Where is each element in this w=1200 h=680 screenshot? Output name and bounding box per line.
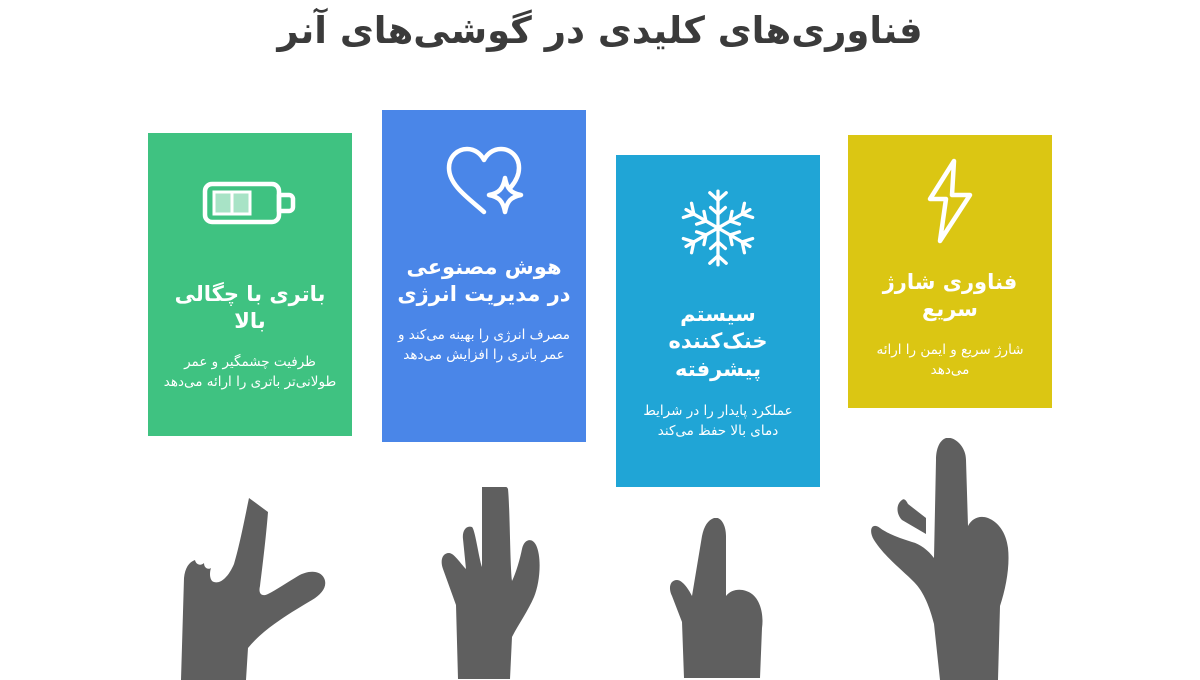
card-battery[interactable]: باتری با چگالی بالا ظرفیت چشمگیر و عمر ط…	[148, 133, 352, 436]
card-battery-icon-wrap	[202, 175, 298, 243]
card-charging-title: فناوری شارژ سریع	[862, 269, 1038, 324]
infographic-canvas: فناوری‌های کلیدی در گوشی‌های آنر باتری ب…	[0, 0, 1200, 675]
card-ai-description: مصرف انرژی را بهینه می‌کند و عمر باتری ر…	[396, 325, 572, 366]
card-charging[interactable]: فناوری شارژ سریع شارژ سریع و ایمن را ارا…	[848, 135, 1052, 408]
card-ai-title: هوش مصنوعی در مدیریت انرژی	[396, 254, 572, 309]
card-cooling-title: سیستم خنک‌کننده پیشرفته	[630, 301, 806, 383]
card-cooling[interactable]: سیستم خنک‌کننده پیشرفته عملکرد پایدار را…	[616, 155, 820, 487]
pointing-hand-icon	[668, 518, 820, 678]
snowflake-icon	[677, 187, 759, 269]
card-ai[interactable]: هوش مصنوعی در مدیریت انرژی مصرف انرژی را…	[382, 110, 586, 442]
card-cooling-description: عملکرد پایدار را در شرایط دمای بالا حفظ …	[630, 401, 806, 442]
card-battery-title: باتری با چگالی بالا	[162, 281, 338, 336]
page-title: فناوری‌های کلیدی در گوشی‌های آنر	[0, 8, 1200, 53]
card-charging-description: شارژ سریع و ایمن را ارائه می‌دهد	[862, 340, 1038, 381]
card-cooling-icon-wrap	[677, 187, 759, 263]
pointing-hand-icon	[868, 438, 1044, 680]
pointing-hand-icon	[176, 498, 346, 680]
card-ai-icon-wrap	[441, 144, 527, 218]
heart-sparkle-icon	[441, 144, 527, 218]
battery-icon	[202, 175, 298, 231]
card-battery-description: ظرفیت چشمگیر و عمر طولانی‌تر باتری را ار…	[162, 352, 338, 393]
pointing-hand-icon	[438, 487, 593, 679]
card-charging-icon-wrap	[920, 157, 980, 241]
lightning-bolt-icon	[920, 157, 980, 245]
